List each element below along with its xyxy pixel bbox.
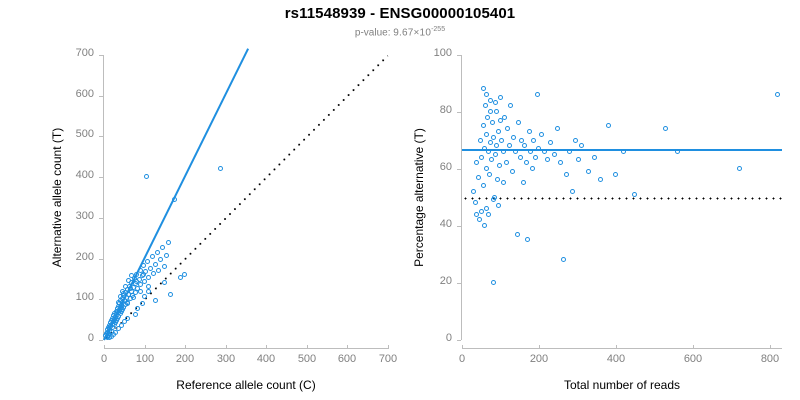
y-axis-tick xyxy=(99,177,103,178)
y-axis-tick xyxy=(99,55,103,56)
x-axis-tick xyxy=(616,345,617,349)
y-axis-tick xyxy=(99,218,103,219)
scatter-point xyxy=(140,301,145,306)
panel-percentage-alternative: 0204060801000200400600800Total number of… xyxy=(400,0,800,400)
x-axis-tick xyxy=(266,345,267,349)
scatter-point xyxy=(488,98,493,103)
scatter-point xyxy=(138,289,143,294)
scatter-point xyxy=(144,174,149,179)
scatter-point xyxy=(182,272,187,277)
x-axis-tick xyxy=(185,345,186,349)
x-axis-line xyxy=(104,348,388,349)
scatter-point xyxy=(527,129,532,134)
y-axis-title: Percentage alternative (T) xyxy=(412,55,426,340)
scatter-point xyxy=(142,294,147,299)
scatter-point xyxy=(573,138,578,143)
scatter-point xyxy=(142,279,147,284)
scatter-point xyxy=(497,163,502,168)
x-axis-tick xyxy=(539,345,540,349)
scatter-point xyxy=(539,132,544,137)
scatter-point xyxy=(479,209,484,214)
scatter-point xyxy=(606,123,611,128)
scatter-point xyxy=(471,189,476,194)
scatter-point xyxy=(533,155,538,160)
scatter-point xyxy=(162,264,167,269)
scatter-point xyxy=(218,166,223,171)
scatter-point xyxy=(162,280,167,285)
scatter-point xyxy=(481,123,486,128)
y-axis-tick xyxy=(99,136,103,137)
y-axis-tick xyxy=(99,259,103,260)
reference-line xyxy=(462,197,782,200)
scatter-point xyxy=(555,126,560,131)
scatter-point xyxy=(141,272,146,277)
scatter-point xyxy=(155,250,160,255)
x-axis-tick xyxy=(388,345,389,349)
y-axis-tick xyxy=(457,112,461,113)
scatter-point xyxy=(148,266,153,271)
scatter-point xyxy=(479,155,484,160)
x-axis-tick-label: 200 xyxy=(514,353,564,365)
scatter-point xyxy=(156,268,161,273)
scatter-point xyxy=(518,155,523,160)
y-axis-tick xyxy=(457,283,461,284)
y-axis-tick xyxy=(457,169,461,170)
scatter-point xyxy=(513,149,518,154)
scatter-point xyxy=(564,172,569,177)
scatter-point xyxy=(493,152,498,157)
scatter-point xyxy=(133,312,138,317)
x-axis-title: Total number of reads xyxy=(462,378,782,392)
scatter-point xyxy=(474,212,479,217)
scatter-point xyxy=(160,245,165,250)
y-axis-title: Alternative allele count (T) xyxy=(50,55,64,340)
scatter-point xyxy=(164,253,169,258)
x-axis-tick-label: 800 xyxy=(745,353,795,365)
x-axis-tick xyxy=(104,345,105,349)
scatter-point xyxy=(153,298,158,303)
scatter-point xyxy=(476,175,481,180)
scatter-point xyxy=(498,95,503,100)
scatter-point xyxy=(561,257,566,262)
scatter-point xyxy=(519,138,524,143)
scatter-point xyxy=(530,166,535,171)
scatter-point xyxy=(158,257,163,262)
x-axis-tick xyxy=(693,345,694,349)
scatter-point xyxy=(478,138,483,143)
scatter-point xyxy=(535,92,540,97)
scatter-point xyxy=(488,109,493,114)
scatter-point xyxy=(145,259,150,264)
x-axis-tick-label: 600 xyxy=(668,353,718,365)
scatter-point xyxy=(128,286,133,291)
x-axis-tick xyxy=(307,345,308,349)
scatter-point xyxy=(592,155,597,160)
scatter-point xyxy=(487,172,492,177)
scatter-point xyxy=(498,118,503,123)
scatter-point xyxy=(501,149,506,154)
y-axis-tick xyxy=(457,226,461,227)
scatter-point xyxy=(146,284,151,289)
scatter-point xyxy=(496,203,501,208)
scatter-point xyxy=(491,197,496,202)
scatter-point xyxy=(484,166,489,171)
scatter-point xyxy=(570,189,575,194)
scatter-point xyxy=(166,240,171,245)
scatter-point xyxy=(131,295,136,300)
scatter-point xyxy=(491,135,496,140)
y-axis-line xyxy=(103,55,104,340)
y-axis-tick xyxy=(99,340,103,341)
scatter-point xyxy=(486,212,491,217)
scatter-point xyxy=(484,206,489,211)
scatter-point xyxy=(105,335,110,340)
y-axis-tick xyxy=(99,96,103,97)
x-axis-line xyxy=(462,348,782,349)
x-axis-tick xyxy=(347,345,348,349)
scatter-point xyxy=(510,169,515,174)
x-axis-tick xyxy=(145,345,146,349)
scatter-point xyxy=(153,262,158,267)
scatter-point xyxy=(494,109,499,114)
scatter-point xyxy=(485,115,490,120)
scatter-point xyxy=(567,149,572,154)
figure-root: rs11548939 - ENSG00000105401 p-value: 9.… xyxy=(0,0,800,400)
scatter-point xyxy=(675,149,680,154)
x-axis-tick xyxy=(770,345,771,349)
scatter-point xyxy=(125,301,130,306)
panel-allele-counts: 0100200300400500600700010020030040050060… xyxy=(0,0,400,400)
x-axis-tick xyxy=(226,345,227,349)
scatter-point xyxy=(496,129,501,134)
x-axis-tick-label: 400 xyxy=(591,353,641,365)
scatter-point xyxy=(499,138,504,143)
scatter-point xyxy=(621,149,626,154)
scatter-point xyxy=(552,152,557,157)
scatter-point xyxy=(172,197,177,202)
y-axis-tick xyxy=(457,55,461,56)
x-axis-tick xyxy=(462,345,463,349)
y-axis-tick xyxy=(457,340,461,341)
scatter-point xyxy=(507,143,512,148)
scatter-point xyxy=(521,180,526,185)
scatter-point xyxy=(486,149,491,154)
scatter-point xyxy=(613,172,618,177)
x-axis-tick-label: 0 xyxy=(437,353,487,365)
y-axis-tick xyxy=(99,299,103,300)
x-axis-title: Reference allele count (C) xyxy=(104,378,388,392)
scatter-point xyxy=(515,232,520,237)
scatter-point xyxy=(737,166,742,171)
